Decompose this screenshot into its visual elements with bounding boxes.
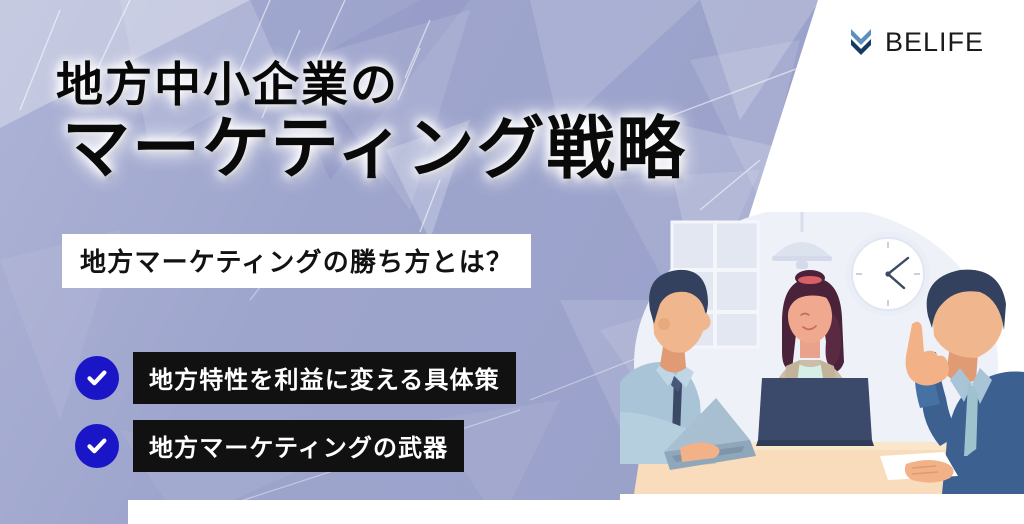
- page-title: 地方中小企業の マーケティング戦略: [56, 62, 687, 185]
- banner-root: BELIFE 地方中小企業の マーケティング戦略 地方マーケティングの勝ち方とは…: [0, 0, 1024, 524]
- right-hand-on-paper: [905, 460, 954, 483]
- headline-line-2: マーケティング戦略: [62, 114, 687, 185]
- double-chevron-down-icon: [846, 26, 876, 58]
- illustration-bottom-strip: [620, 494, 1024, 524]
- bullet-label-1: 地方特性を利益に変える具体策: [133, 352, 516, 404]
- check-circle-icon: [75, 424, 119, 468]
- check-mark-icon: [84, 433, 110, 459]
- bullet-label-2: 地方マーケティングの武器: [133, 420, 464, 472]
- brand-logo[interactable]: BELIFE: [846, 26, 984, 58]
- subtitle-text: 地方マーケティングの勝ち方とは？: [80, 248, 513, 278]
- laptop-center: [756, 378, 874, 446]
- check-mark-icon: [84, 365, 110, 391]
- headline-line-1: 地方中小企業の: [56, 62, 687, 110]
- business-meeting-illustration: [620, 212, 1024, 524]
- bullet-item-2: 地方マーケティングの武器: [75, 420, 516, 472]
- subtitle-bar: 地方マーケティングの勝ち方とは？: [62, 234, 531, 288]
- bullet-item-1: 地方特性を利益に変える具体策: [75, 352, 516, 404]
- check-circle-icon: [75, 356, 119, 400]
- brand-logo-text: BELIFE: [885, 27, 984, 58]
- wall-clock-icon: [846, 232, 930, 316]
- bullet-list: 地方特性を利益に変える具体策 地方マーケティングの武器: [75, 352, 516, 488]
